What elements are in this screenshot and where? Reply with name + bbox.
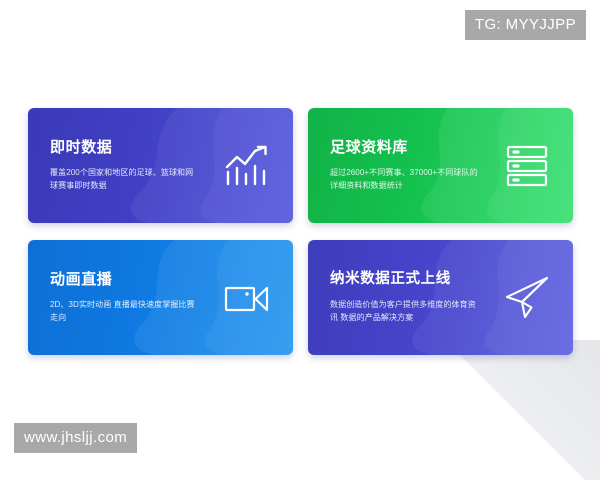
card-description: 2D、3D实时动画 直播最快速度掌握比赛走向 [50, 298, 198, 324]
card-title: 足球资料库 [330, 139, 478, 157]
card-text-block: 纳米数据正式上线 数据创造价值为客户提供多维度的体育资讯 数据的产品解决方案 [308, 271, 478, 324]
card-description: 超过2600+不同赛事、37000+不同球队的详细资料和数据统计 [330, 166, 478, 192]
server-stack-icon [503, 144, 551, 188]
feature-card-nami-data-launch[interactable]: 纳米数据正式上线 数据创造价值为客户提供多维度的体育资讯 数据的产品解决方案 [308, 240, 573, 355]
card-text-block: 即时数据 覆盖200个国家和地区的足球、篮球和网球赛事即时数据 [28, 139, 198, 192]
site-url-watermark: www.jhsljj.com [14, 423, 137, 453]
card-title: 即时数据 [50, 139, 198, 157]
telegram-watermark: TG: MYYJJPP [465, 10, 586, 40]
feature-card-animated-live[interactable]: 动画直播 2D、3D实时动画 直播最快速度掌握比赛走向 [28, 240, 293, 355]
card-description: 覆盖200个国家和地区的足球、篮球和网球赛事即时数据 [50, 166, 198, 192]
feature-card-grid: 即时数据 覆盖200个国家和地区的足球、篮球和网球赛事即时数据 足球资料库 [28, 108, 573, 370]
bar-chart-trend-icon [223, 144, 271, 188]
card-text-block: 足球资料库 超过2600+不同赛事、37000+不同球队的详细资料和数据统计 [308, 139, 478, 192]
card-description: 数据创造价值为客户提供多维度的体育资讯 数据的产品解决方案 [330, 298, 478, 324]
paper-plane-icon [503, 276, 551, 320]
video-camera-icon [223, 276, 271, 320]
feature-card-realtime-data[interactable]: 即时数据 覆盖200个国家和地区的足球、篮球和网球赛事即时数据 [28, 108, 293, 223]
card-title: 纳米数据正式上线 [330, 271, 478, 288]
feature-card-football-database[interactable]: 足球资料库 超过2600+不同赛事、37000+不同球队的详细资料和数据统计 [308, 108, 573, 223]
card-title: 动画直播 [50, 271, 198, 289]
card-text-block: 动画直播 2D、3D实时动画 直播最快速度掌握比赛走向 [28, 271, 198, 324]
